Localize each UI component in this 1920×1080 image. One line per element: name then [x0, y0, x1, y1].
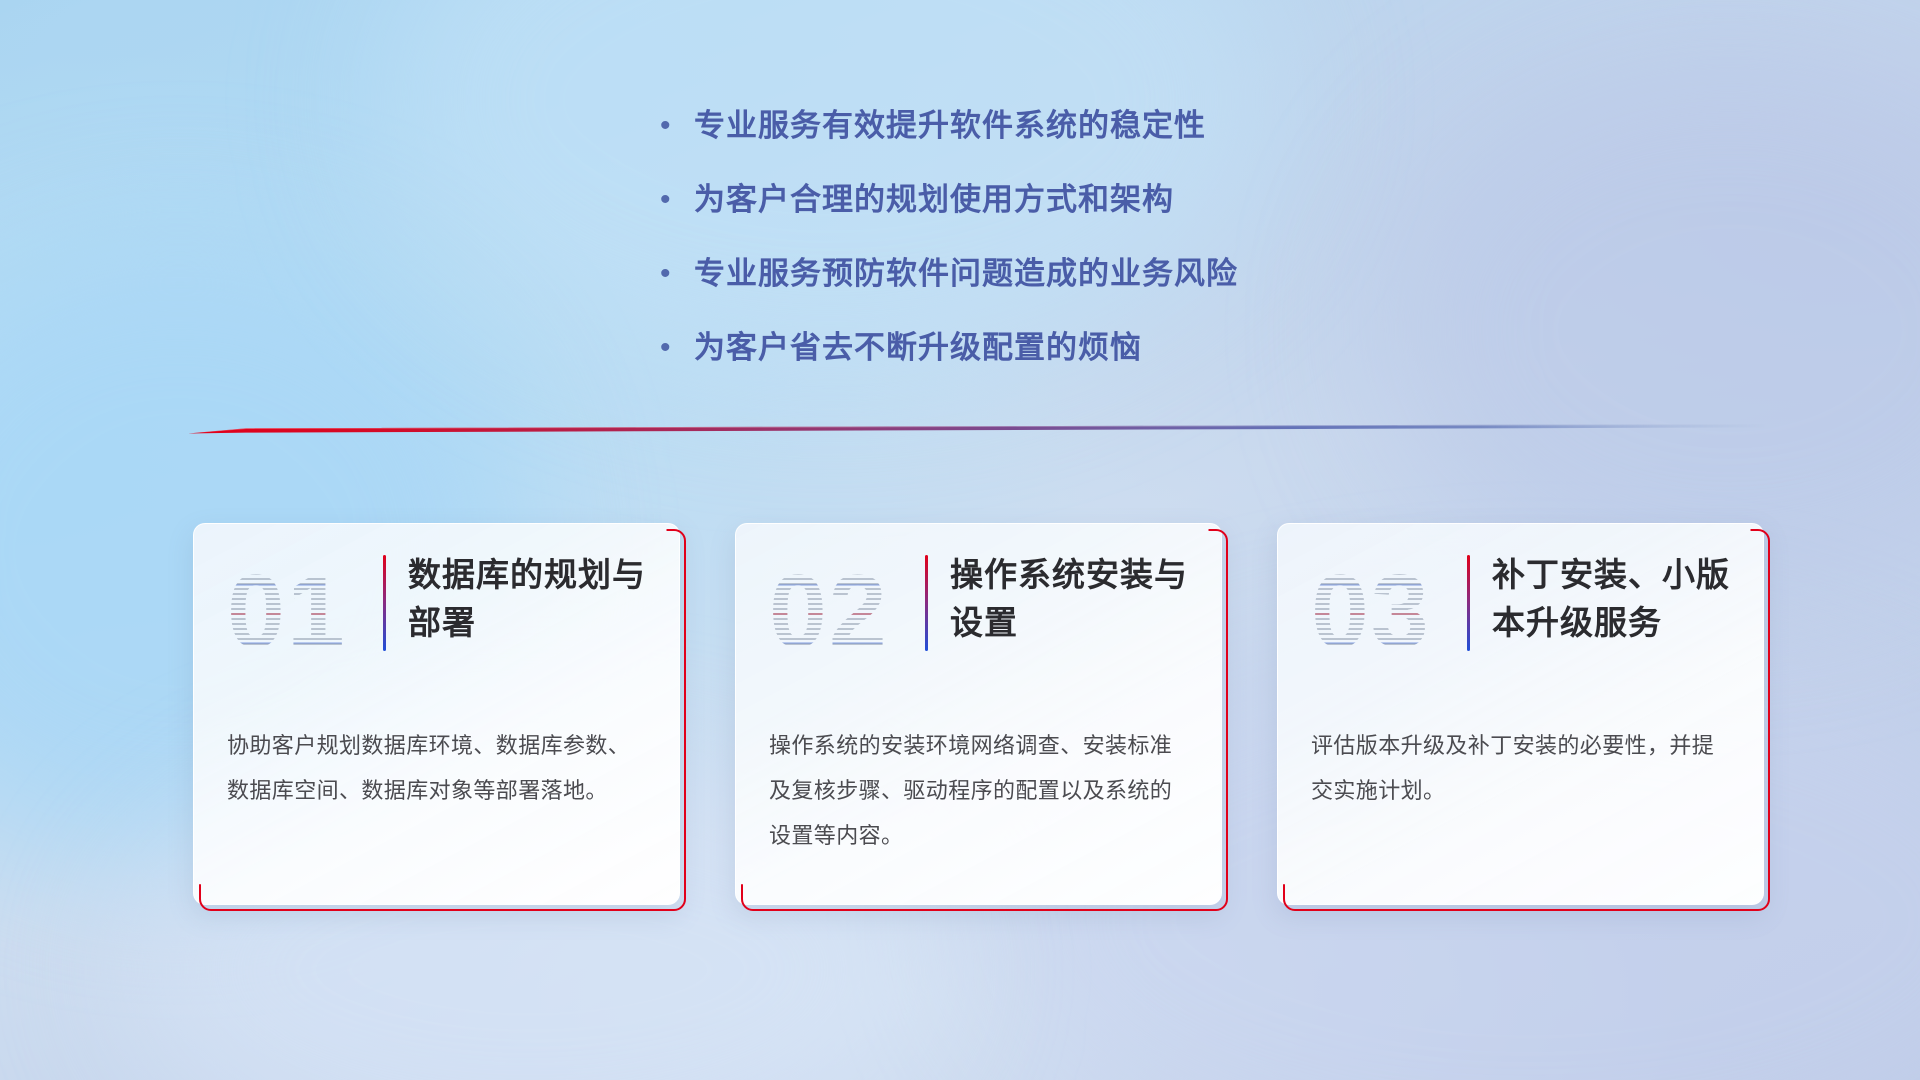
service-cards: 01 01 01 数据库的规划与部署 协助客户规划数据库环境、数据库参数、数据库…	[193, 523, 1764, 905]
card-number-glitch: 02 02 02	[769, 553, 919, 673]
benefit-text-3: 专业服务预防软件问题造成的业务风险	[694, 252, 1238, 296]
divider-line-icon	[188, 418, 1766, 440]
card-description: 协助客户规划数据库环境、数据库参数、数据库空间、数据库对象等部署落地。	[227, 723, 646, 813]
service-card-02[interactable]: 02 02 02 操作系统安装与设置 操作系统的安装环境网络调查、安装标准及复核…	[735, 523, 1222, 905]
card-description: 评估版本升级及补丁安装的必要性，并提交实施计划。	[1311, 723, 1730, 813]
card-number-blue-lines: 01	[227, 553, 377, 673]
benefit-text-1: 专业服务有效提升软件系统的稳定性	[694, 104, 1206, 148]
benefit-text-2: 为客户合理的规划使用方式和架构	[694, 178, 1174, 222]
list-item: • 专业服务有效提升软件系统的稳定性	[660, 104, 1560, 148]
card-title: 数据库的规划与部署	[408, 547, 646, 647]
benefit-text-4: 为客户省去不断升级配置的烦恼	[694, 326, 1142, 370]
title-accent-bar	[383, 555, 386, 651]
list-item: • 为客户省去不断升级配置的烦恼	[660, 326, 1560, 370]
list-item: • 专业服务预防软件问题造成的业务风险	[660, 252, 1560, 296]
list-item: • 为客户合理的规划使用方式和架构	[660, 178, 1560, 222]
slide-root: • 专业服务有效提升软件系统的稳定性 • 为客户合理的规划使用方式和架构 • 专…	[0, 0, 1920, 1080]
card-description: 操作系统的安装环境网络调查、安装标准及复核步骤、驱动程序的配置以及系统的设置等内…	[769, 723, 1188, 858]
card-number-glitch: 01 01 01	[227, 553, 377, 673]
card-header: 02 02 02 操作系统安装与设置	[769, 547, 1188, 675]
section-divider	[188, 418, 1766, 440]
benefits-list: • 专业服务有效提升软件系统的稳定性 • 为客户合理的规划使用方式和架构 • 专…	[660, 104, 1560, 400]
service-card-01[interactable]: 01 01 01 数据库的规划与部署 协助客户规划数据库环境、数据库参数、数据库…	[193, 523, 680, 905]
card-title: 补丁安装、小版本升级服务	[1492, 547, 1730, 647]
title-accent-bar	[925, 555, 928, 651]
card-header: 01 01 01 数据库的规划与部署	[227, 547, 646, 675]
card-number-blue-lines: 02	[769, 553, 919, 673]
bullet-dot-icon: •	[660, 178, 694, 222]
card-number-glitch: 03 03 03	[1311, 553, 1461, 673]
card-number-blue-lines: 03	[1311, 553, 1461, 673]
bullet-dot-icon: •	[660, 104, 694, 148]
service-card-03[interactable]: 03 03 03 补丁安装、小版本升级服务 评估版本升级及补丁安装的必要性，并提…	[1277, 523, 1764, 905]
bullet-dot-icon: •	[660, 326, 694, 370]
card-title: 操作系统安装与设置	[950, 547, 1188, 647]
title-accent-bar	[1467, 555, 1470, 651]
bullet-dot-icon: •	[660, 252, 694, 296]
card-header: 03 03 03 补丁安装、小版本升级服务	[1311, 547, 1730, 675]
